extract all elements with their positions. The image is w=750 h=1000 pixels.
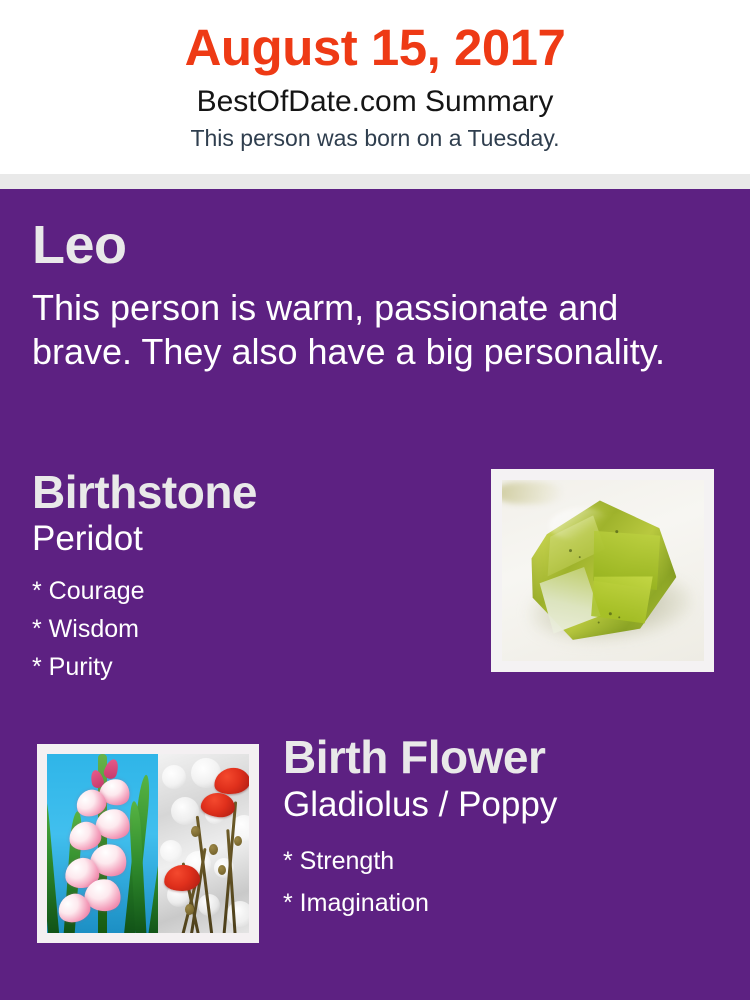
- bokeh-light: [160, 840, 182, 862]
- page-title-date: August 15, 2017: [0, 0, 750, 73]
- poppy-bud: [234, 836, 242, 846]
- birth-flower-text-block: Birth Flower Gladiolus / Poppy * Strengt…: [283, 734, 733, 916]
- birthstone-name: Peridot: [32, 515, 472, 558]
- zodiac-description: This person is warm, passionate and brav…: [32, 272, 682, 374]
- peridot-gem-icon: [502, 480, 704, 661]
- list-item: * Imagination: [283, 874, 733, 916]
- poppy-bud: [209, 844, 218, 855]
- list-item: * Wisdom: [32, 604, 472, 642]
- gem-inclusion: [609, 612, 612, 615]
- list-item: * Purity: [32, 642, 472, 680]
- leaf: [147, 826, 158, 933]
- birthstone-trait-list: * Courage * Wisdom * Purity: [32, 558, 472, 680]
- gem-inclusion: [615, 530, 618, 533]
- birth-flower-name: Gladiolus / Poppy: [283, 780, 733, 824]
- gem-crystal-body: [520, 491, 682, 646]
- bokeh-light: [171, 797, 199, 825]
- birthstone-image-frame: [491, 469, 714, 672]
- birth-flower-trait-list: * Strength * Imagination: [283, 824, 733, 916]
- bokeh-light: [162, 765, 186, 789]
- birthstone-section: Birthstone Peridot * Courage * Wisdom * …: [0, 469, 750, 694]
- list-item: * Strength: [283, 832, 733, 874]
- photo-highlight-smudge: [502, 482, 562, 504]
- header-divider: [0, 174, 750, 189]
- gladiolus-poppy-icon: [47, 754, 249, 933]
- birth-flower-image-frame: [37, 744, 259, 943]
- zodiac-section: Leo This person is warm, passionate and …: [32, 218, 712, 374]
- birthstone-text-block: Birthstone Peridot * Courage * Wisdom * …: [32, 469, 472, 680]
- site-name-subtitle: BestOfDate.com Summary: [0, 73, 750, 118]
- birthstone-heading: Birthstone: [32, 469, 472, 515]
- zodiac-sign-name: Leo: [32, 218, 712, 272]
- gladiolus-photo-pane: [47, 754, 158, 933]
- bokeh-light: [227, 901, 249, 927]
- summary-page: August 15, 2017 BestOfDate.com Summary T…: [0, 0, 750, 1000]
- poppy-bud: [191, 826, 200, 837]
- poppy-photo-pane: [158, 754, 249, 933]
- page-header: August 15, 2017 BestOfDate.com Summary T…: [0, 0, 750, 174]
- born-weekday-line: This person was born on a Tuesday.: [0, 118, 750, 150]
- birth-flower-heading: Birth Flower: [283, 734, 733, 780]
- list-item: * Courage: [32, 566, 472, 604]
- purple-content-panel: Leo This person is warm, passionate and …: [0, 189, 750, 1000]
- poppy-bud: [218, 865, 226, 875]
- birth-flower-section: Birth Flower Gladiolus / Poppy * Strengt…: [0, 734, 750, 944]
